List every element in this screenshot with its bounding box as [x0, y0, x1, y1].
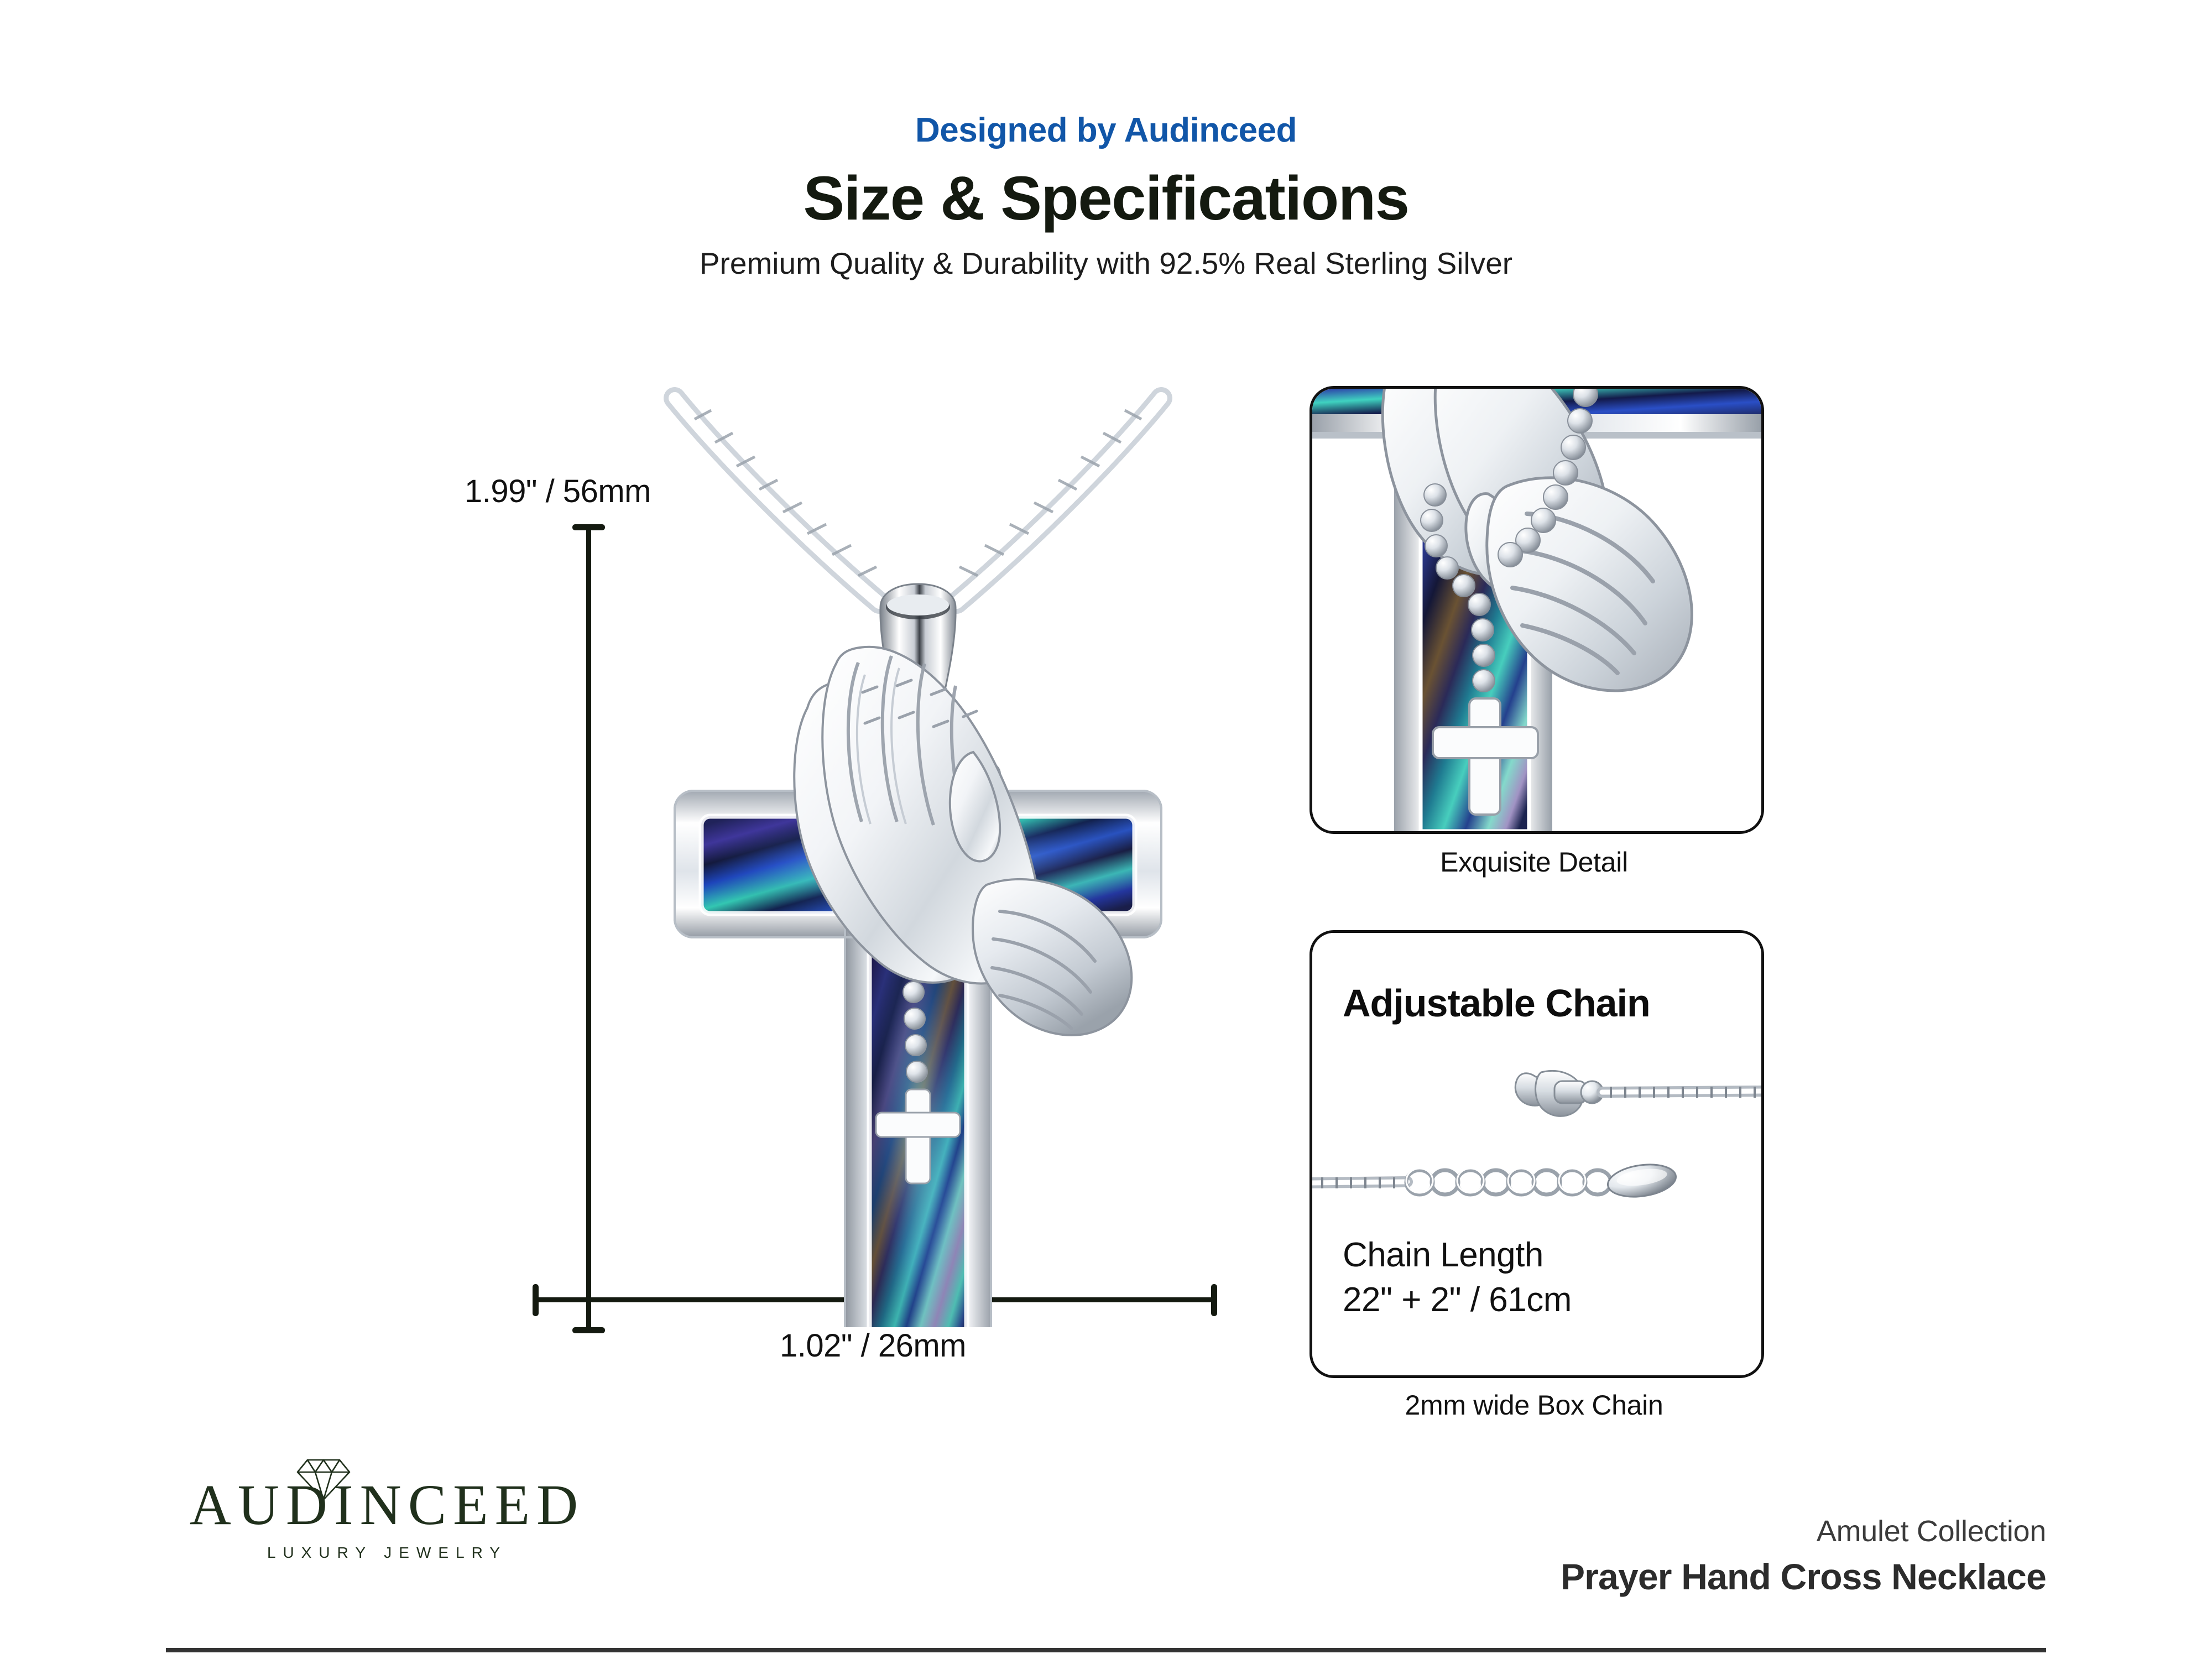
adjustable-chain-heading: Adjustable Chain: [1343, 978, 1697, 1029]
dimension-height-label: 1.99" / 56mm: [465, 473, 651, 510]
logo-tagline: LUXURY JEWELRY: [166, 1545, 608, 1561]
dimension-width-cap-right: [1211, 1284, 1217, 1316]
necklace-chain: [675, 398, 1161, 603]
exquisite-detail-caption: Exquisite Detail: [1310, 846, 1759, 878]
product-name: Prayer Hand Cross Necklace: [1051, 1555, 2046, 1599]
upper-box-chain: [1602, 1087, 1761, 1098]
page-subtitle: Premium Quality & Durability with 92.5% …: [0, 248, 2212, 279]
collection-name: Amulet Collection: [1051, 1514, 2046, 1548]
exquisite-detail-card: [1310, 386, 1764, 834]
chain-length-text: Chain Length 22" + 2" / 61cm: [1343, 1233, 1730, 1322]
brand-line: Designed by Audinceed: [0, 113, 2212, 148]
page-title: Size & Specifications: [0, 168, 2212, 229]
footer-product-info: Amulet Collection Prayer Hand Cross Neck…: [1051, 1514, 2046, 1599]
logo-wordmark: AUDINCEED: [166, 1477, 608, 1534]
footer-divider: [166, 1648, 2046, 1652]
dimension-height-cap-top: [572, 524, 605, 530]
detail-zoom-image: [1312, 389, 1761, 831]
dimension-width-label: 1.02" / 26mm: [780, 1327, 966, 1364]
dimension-height-cap-bottom: [572, 1327, 605, 1333]
page-header: Designed by Audinceed Size & Specificati…: [0, 0, 2212, 279]
dimension-height-line: [586, 528, 591, 1300]
box-chain-caption: 2mm wide Box Chain: [1310, 1389, 1759, 1421]
brand-logo: AUDINCEED LUXURY JEWELRY: [166, 1477, 608, 1561]
product-image-cross-pendant: [641, 387, 1194, 1327]
dimension-width-cap-left: [533, 1284, 539, 1316]
